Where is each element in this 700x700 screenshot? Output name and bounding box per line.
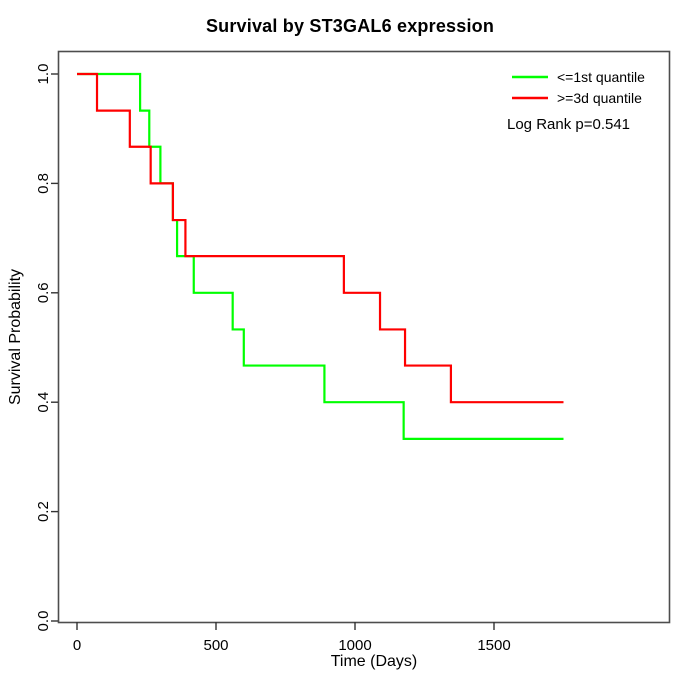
y-tick-label: 0.2 [35, 501, 52, 522]
survival-plot-page: Survival by ST3GAL6 expression 0.00.20.4… [0, 0, 700, 700]
x-tick-label: 1000 [338, 637, 371, 654]
legend-label: <=1st quantile [557, 69, 645, 85]
y-tick-label: 0.4 [35, 392, 52, 413]
y-tick-label: 0.6 [35, 282, 52, 303]
log-rank-annotation: Log Rank p=0.541 [507, 116, 630, 133]
x-axis-title: Time (Days) [331, 653, 418, 670]
x-axis-ticks: 050010001500 [73, 622, 511, 654]
survival-chart: 0.00.20.40.60.81.0 050010001500 Time (Da… [0, 0, 700, 700]
chart-legend: <=1st quantile>=3d quantile [512, 69, 645, 106]
y-axis-title: Survival Probability [7, 269, 24, 405]
y-tick-label: 0.0 [35, 611, 52, 632]
x-tick-label: 0 [73, 637, 81, 654]
legend-label: >=3d quantile [557, 90, 642, 106]
series-layer [77, 74, 564, 439]
x-tick-label: 500 [203, 637, 228, 654]
x-tick-label: 1500 [477, 637, 510, 654]
y-tick-label: 1.0 [35, 64, 52, 85]
y-tick-label: 0.8 [35, 173, 52, 194]
y-axis-ticks: 0.00.20.40.60.81.0 [35, 64, 58, 632]
